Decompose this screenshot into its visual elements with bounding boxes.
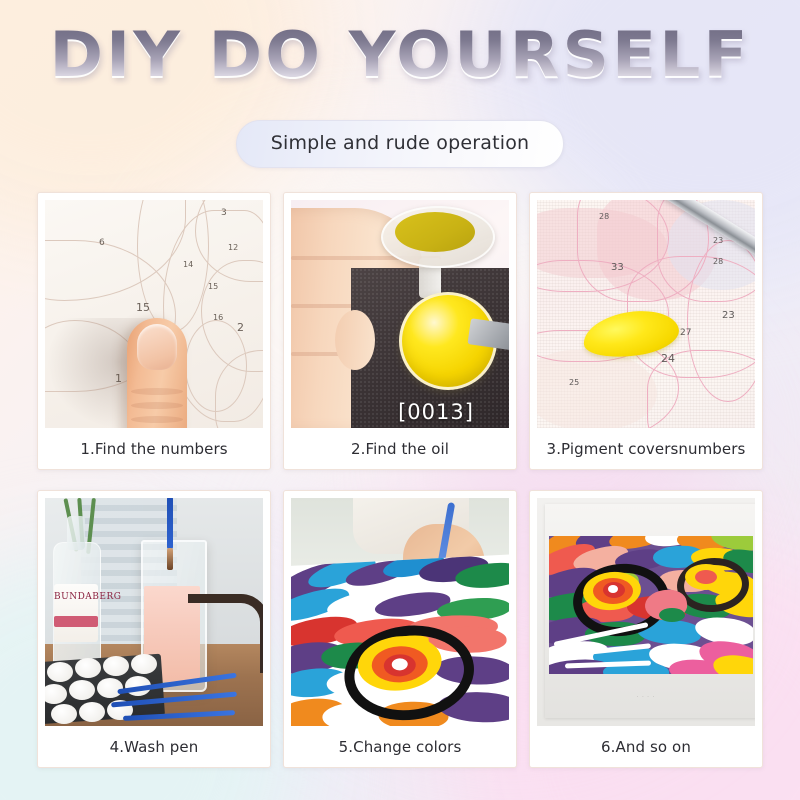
step-card-6[interactable]: · · · · 6.And so on [529, 490, 763, 768]
canvas-number: 14 [183, 260, 193, 269]
step-caption-2: 2.Find the oil [291, 428, 509, 469]
canvas-number: 25 [569, 378, 579, 387]
artwork-signature: · · · · [537, 694, 755, 700]
step-photo-1: 6 3 12 14 15 16 15 2 1 [45, 200, 263, 428]
step-caption-5: 5.Change colors [291, 726, 509, 767]
subtitle-pill: Simple and rude operation [236, 120, 565, 168]
step-photo-2: [0013] [291, 200, 509, 428]
step-card-4[interactable]: BUNDABERG [37, 490, 271, 768]
fingernail [137, 324, 177, 370]
canvas-number: 2 [237, 321, 244, 334]
canvas-number: 24 [661, 352, 675, 365]
step-card-2[interactable]: [0013] 2.Find the oil [283, 192, 517, 470]
canvas-number: 27 [680, 328, 691, 338]
step-caption-6: 6.And so on [537, 726, 755, 767]
paint-code-label: [0013] [361, 400, 509, 424]
canvas-number: 23 [722, 310, 735, 321]
canvas-number: 15 [136, 301, 150, 314]
lid-paint-residue [395, 212, 475, 252]
canvas-number: 28 [599, 212, 609, 221]
canvas-number: 23 [713, 236, 723, 245]
canvas-number: 15 [208, 282, 218, 291]
step-caption-4: 4.Wash pen [45, 726, 263, 767]
bottle-label-band [54, 616, 98, 627]
brush-handle-dipping [167, 498, 173, 550]
step-card-1[interactable]: 6 3 12 14 15 16 15 2 1 1.Find the number… [37, 192, 271, 470]
step-photo-3: 28 33 23 28 23 27 24 25 [537, 200, 755, 428]
step-photo-6: · · · · [537, 498, 755, 726]
step-caption-3: 3.Pigment coversnumbers [537, 428, 755, 469]
finished-cat-artwork [549, 536, 753, 674]
canvas-number: 33 [611, 262, 624, 273]
hand-notch [335, 310, 375, 370]
canvas-number: 1 [115, 372, 122, 385]
canvas-number: 16 [213, 313, 223, 322]
canvas-number: 12 [228, 243, 238, 252]
chair-back [188, 594, 263, 673]
bottle-neck [67, 516, 85, 550]
step-card-3[interactable]: 28 33 23 28 23 27 24 25 3.Pigment covers… [529, 192, 763, 470]
canvas-number: 28 [713, 257, 723, 266]
page-title-container: DIY DO YOURSELF [0, 22, 800, 87]
brush-ferrule-dipping [167, 548, 173, 570]
step-card-5[interactable]: 5.Change colors [283, 490, 517, 768]
canvas-number: 3 [221, 208, 227, 218]
step-caption-1: 1.Find the numbers [45, 428, 263, 469]
step-photo-4: BUNDABERG [45, 498, 263, 726]
steps-grid: 6 3 12 14 15 16 15 2 1 1.Find the number… [37, 192, 763, 768]
poster-canvas: DIY DO YOURSELF Simple and rude operatio… [0, 0, 800, 800]
painting-canvas [291, 554, 509, 726]
bottle-label: BUNDABERG [54, 584, 98, 642]
page-title: DIY DO YOURSELF [49, 22, 750, 87]
step-photo-5 [291, 498, 509, 726]
subtitle-container: Simple and rude operation [0, 120, 800, 168]
canvas-number: 6 [99, 238, 105, 248]
